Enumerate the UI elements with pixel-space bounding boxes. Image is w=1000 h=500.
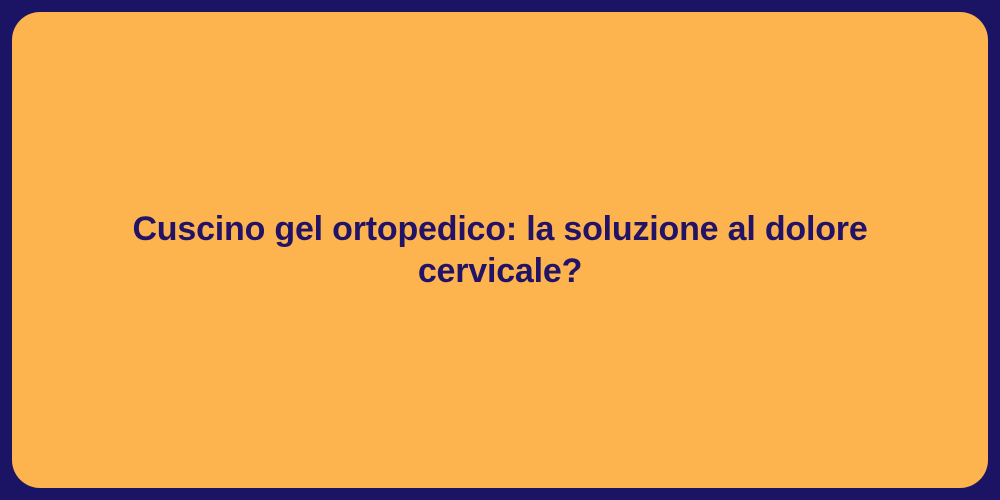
card-surface: Cuscino gel ortopedico: la soluzione al … (12, 12, 988, 488)
article-title-card: Cuscino gel ortopedico: la soluzione al … (0, 0, 1000, 500)
page-title: Cuscino gel ortopedico: la soluzione al … (72, 208, 928, 293)
